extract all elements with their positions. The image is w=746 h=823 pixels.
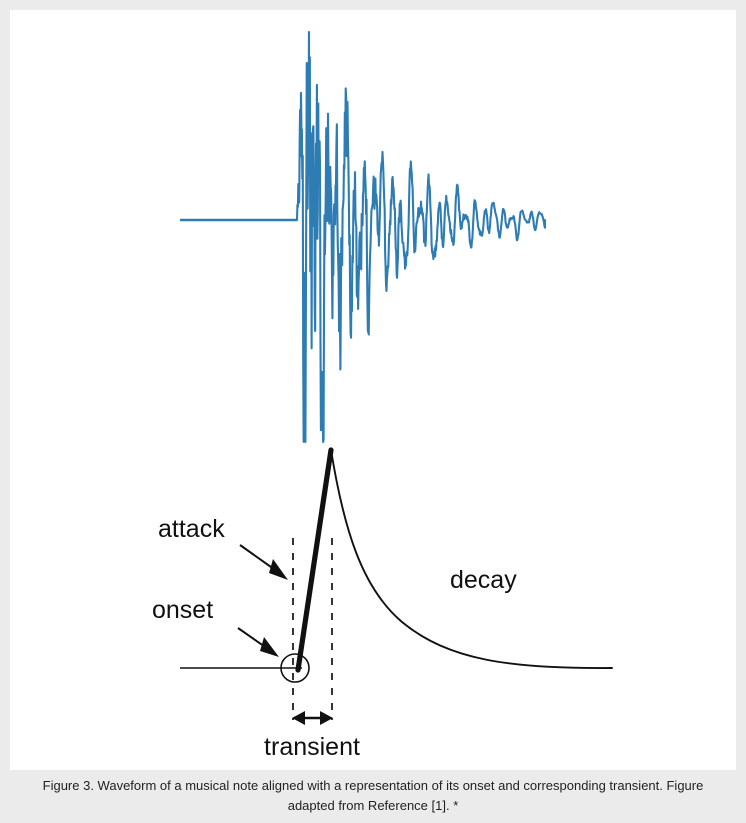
figure-caption: Figure 3. Waveform of a musical note ali… — [23, 776, 723, 816]
decay-curve — [331, 450, 612, 668]
attack-ramp — [298, 450, 331, 670]
onset-arrow-head — [260, 637, 279, 657]
waveform-plot — [180, 32, 545, 442]
figure-caption-bar: Figure 3. Waveform of a musical note ali… — [0, 770, 746, 823]
attack-arrow-head — [269, 559, 288, 580]
transient-label: transient — [264, 733, 360, 761]
figure-image-panel: attack onset decay transient — [10, 10, 736, 770]
decay-label: decay — [450, 566, 517, 594]
figure-graphic: attack onset decay transient — [10, 10, 736, 770]
transient-arrow-head-right — [320, 711, 333, 725]
figure-container: attack onset decay transient Figure 3. W… — [0, 0, 746, 823]
onset-label: onset — [152, 596, 213, 624]
attack-label: attack — [158, 515, 225, 543]
waveform-trace — [297, 32, 545, 442]
transient-arrow-head-left — [292, 711, 305, 725]
envelope-diagram: attack onset decay transient — [152, 450, 612, 761]
